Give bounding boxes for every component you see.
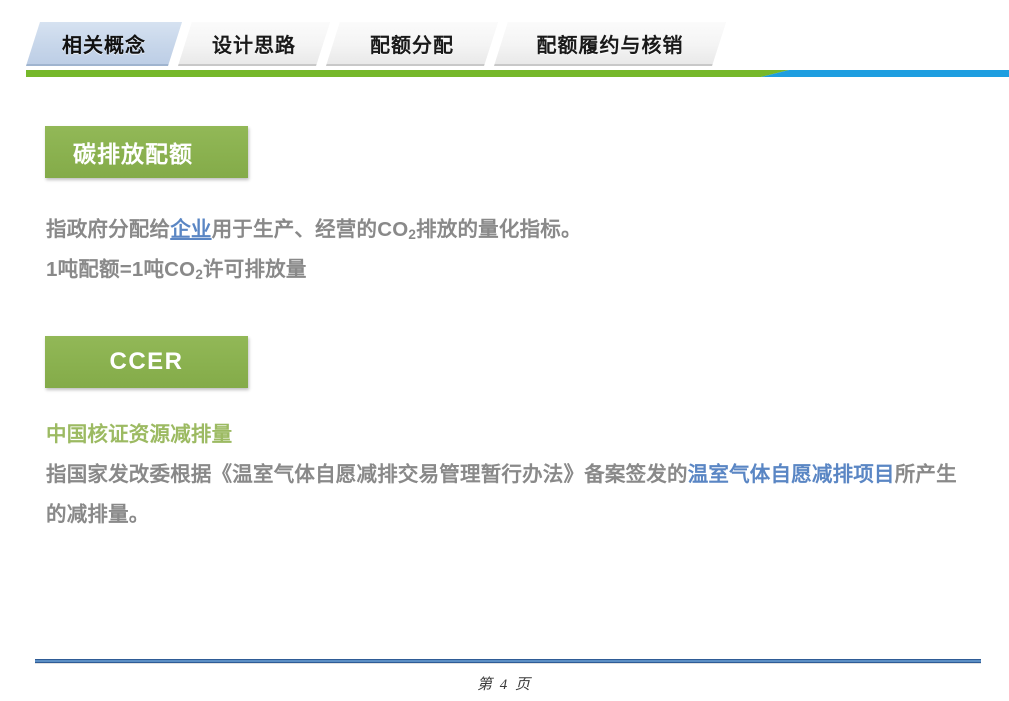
paragraph-quota-equivalence: 1吨配额=1吨CO2许可排放量: [46, 250, 307, 290]
subscript-two: 2: [408, 227, 416, 242]
slide-root: 相关概念 设计思路 配额分配 配额履约与核销 碳排放配额 指政府分配给企业用于生…: [0, 0, 1009, 701]
section-chip-carbon-quota: 碳排放配额: [45, 126, 248, 178]
section-chip-ccer: CCER: [45, 336, 248, 388]
tab-peie-lvyue-yu-hexiao[interactable]: 配额履约与核销: [494, 22, 726, 66]
tab-label: 配额分配: [370, 29, 454, 58]
link-enterprise[interactable]: 企业: [170, 218, 211, 241]
text-run: 用于生产、经营的CO: [212, 218, 409, 241]
subscript-two: 2: [195, 267, 203, 282]
paragraph-ccer-definition: 指国家发改委根据《温室气体自愿减排交易管理暂行办法》备案签发的温室气体自愿减排项…: [46, 455, 958, 535]
header-rule-blue-segment: [761, 70, 1009, 77]
text-run: 排放的量化指标。: [416, 218, 582, 241]
tab-label: 相关概念: [62, 29, 146, 58]
text-run: 指政府分配给: [46, 218, 170, 241]
text-run: 许可排放量: [203, 258, 307, 281]
heading-ccer-chinese-name: 中国核证资源减排量: [46, 415, 232, 455]
tab-xiangguan-gainian[interactable]: 相关概念: [26, 22, 182, 66]
footer-page-number: 第 4 页: [0, 673, 1009, 694]
header-rule: [26, 70, 1009, 77]
paragraph-quota-definition: 指政府分配给企业用于生产、经营的CO2排放的量化指标。: [46, 210, 582, 250]
section-chip-label: CCER: [109, 348, 183, 376]
tab-label: 设计思路: [212, 29, 296, 58]
tab-peie-fenpei[interactable]: 配额分配: [326, 22, 498, 66]
tab-sheji-silu[interactable]: 设计思路: [178, 22, 330, 66]
emphasis-ghg-voluntary-project[interactable]: 温室气体自愿减排项目: [688, 463, 895, 486]
footer-divider: [35, 659, 981, 664]
tab-label: 配额履约与核销: [537, 29, 684, 58]
text-run: 1吨配额=1吨CO: [46, 258, 195, 281]
text-run: 指国家发改委根据《温室气体自愿减排交易管理暂行办法》备案签发的: [46, 463, 688, 486]
header-rule-green-segment: [26, 70, 789, 77]
tab-bar: 相关概念 设计思路 配额分配 配额履约与核销: [0, 0, 1009, 70]
section-chip-label: 碳排放配额: [73, 135, 193, 169]
